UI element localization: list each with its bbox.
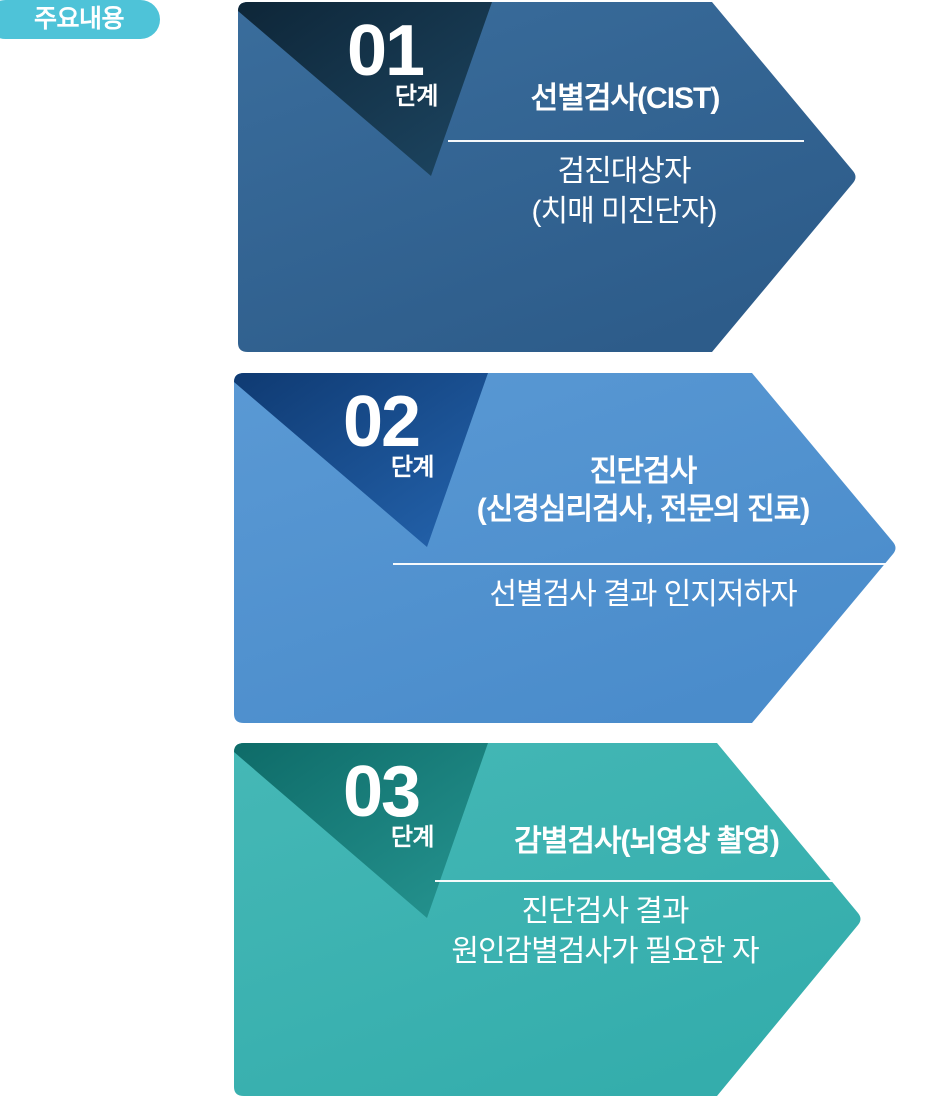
step-1-desc-line-1: 검진대상자	[398, 152, 850, 192]
step-1-description: 검진대상자 (치매 미진단자)	[398, 152, 850, 231]
process-step-2: 02 단계 진단검사 (신경심리검사, 전문의 진료) 선별검사 결과 인지저하…	[0, 371, 926, 731]
step-2-shape	[0, 371, 926, 731]
step-1-desc-line-2: (치매 미진단자)	[398, 192, 850, 232]
process-step-3: 03 단계 감별검사(뇌영상 촬영) 진단검사 결과 원인감별검사가 필요한 자	[0, 741, 926, 1106]
step-3-desc-line-1: 진단검사 결과	[355, 892, 855, 932]
step-3-description: 진단검사 결과 원인감별검사가 필요한 자	[355, 892, 855, 971]
step-3-title-line-1: 감별검사(뇌영상 촬영)	[435, 823, 858, 861]
step-1-title-line-1: 선별검사(CIST)	[445, 80, 805, 118]
step-3-number: 03	[326, 759, 436, 825]
step-2-title: 진단검사 (신경심리검사, 전문의 진료)	[393, 453, 893, 530]
step-3-desc-line-2: 원인감별검사가 필요한 자	[355, 932, 855, 972]
process-step-1: 01 단계 선별검사(CIST) 검진대상자 (치매 미진단자)	[0, 0, 926, 360]
step-1-number: 01	[330, 18, 440, 84]
step-2-number: 02	[326, 389, 436, 455]
step-3-number-group: 03 단계	[326, 759, 436, 850]
step-1-title: 선별검사(CIST)	[445, 80, 805, 118]
step-2-divider	[393, 563, 893, 565]
step-2-desc-line-1: 선별검사 결과 인지저하자	[393, 575, 893, 615]
step-3-title: 감별검사(뇌영상 촬영)	[435, 823, 858, 861]
step-3-divider	[435, 880, 858, 882]
step-1-number-group: 01 단계	[330, 18, 440, 109]
step-2-title-line-1: 진단검사	[393, 453, 893, 491]
step-2-description: 선별검사 결과 인지저하자	[393, 575, 893, 615]
step-1-divider	[448, 140, 804, 142]
step-2-title-line-2: (신경심리검사, 전문의 진료)	[393, 491, 893, 529]
infographic-root: 주요내용 01 단계	[0, 0, 926, 1106]
